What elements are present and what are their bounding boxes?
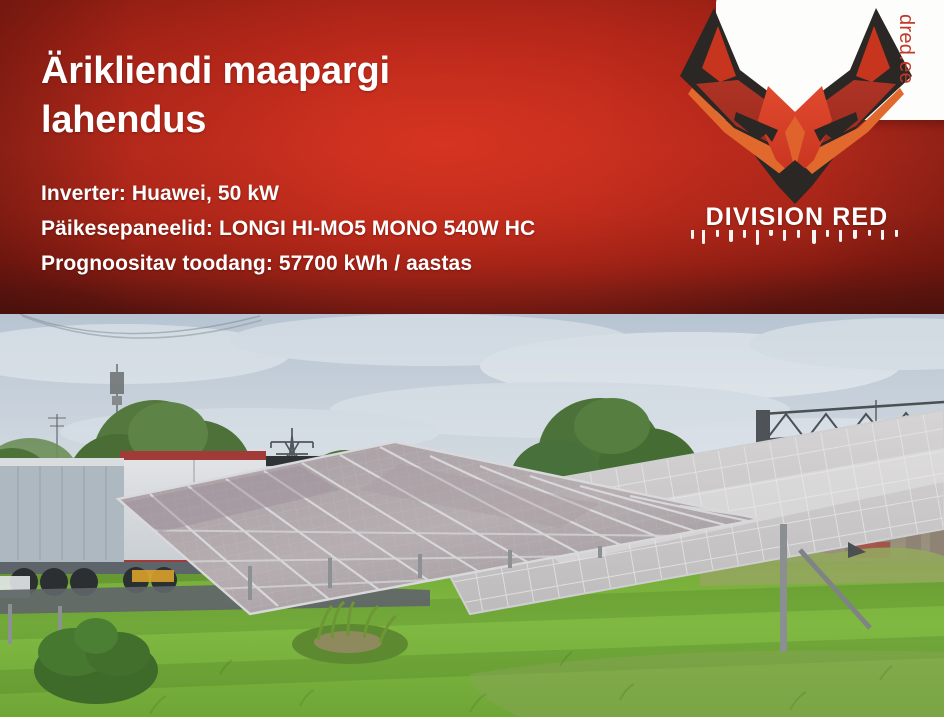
site-url-label: dred.ee	[894, 14, 917, 110]
drip	[881, 230, 884, 240]
brand-wordmark: DIVISION RED	[650, 203, 944, 232]
fox-head-icon	[662, 0, 932, 210]
spec-item-panels: Päikesepaneelid: LONGI HI-MO5 MONO 540W …	[41, 211, 681, 246]
brand-logo-block: DIVISION RED dred.ee	[650, 0, 944, 314]
drip	[853, 230, 857, 239]
brand-wordmark-group: DIVISION RED	[650, 203, 944, 247]
drip	[783, 230, 786, 241]
drip	[702, 230, 705, 244]
drip	[729, 230, 733, 242]
drip	[812, 230, 816, 244]
drip	[716, 230, 719, 237]
project-photo	[0, 314, 944, 717]
spec-list: Inverter: Huawei, 50 kW Päikesepaneelid:…	[41, 176, 681, 281]
spec-item-inverter: Inverter: Huawei, 50 kW	[41, 176, 681, 211]
solar-farm-photograph	[0, 314, 944, 717]
spec-item-yield: Prognoositav toodang: 57700 kWh / aastas	[41, 246, 681, 281]
drip	[839, 230, 842, 242]
page-title: Ärikliendi maapargi lahendus	[41, 47, 601, 144]
drip	[691, 230, 694, 239]
solar-project-poster: Ärikliendi maapargi lahendus Inverter: H…	[0, 0, 944, 717]
drip	[895, 230, 898, 237]
drip	[868, 230, 871, 236]
drip	[826, 230, 829, 237]
drip	[797, 230, 800, 238]
drip	[756, 230, 759, 245]
drip	[769, 230, 773, 236]
header-banner: Ärikliendi maapargi lahendus Inverter: H…	[0, 0, 944, 314]
drip	[743, 230, 746, 238]
